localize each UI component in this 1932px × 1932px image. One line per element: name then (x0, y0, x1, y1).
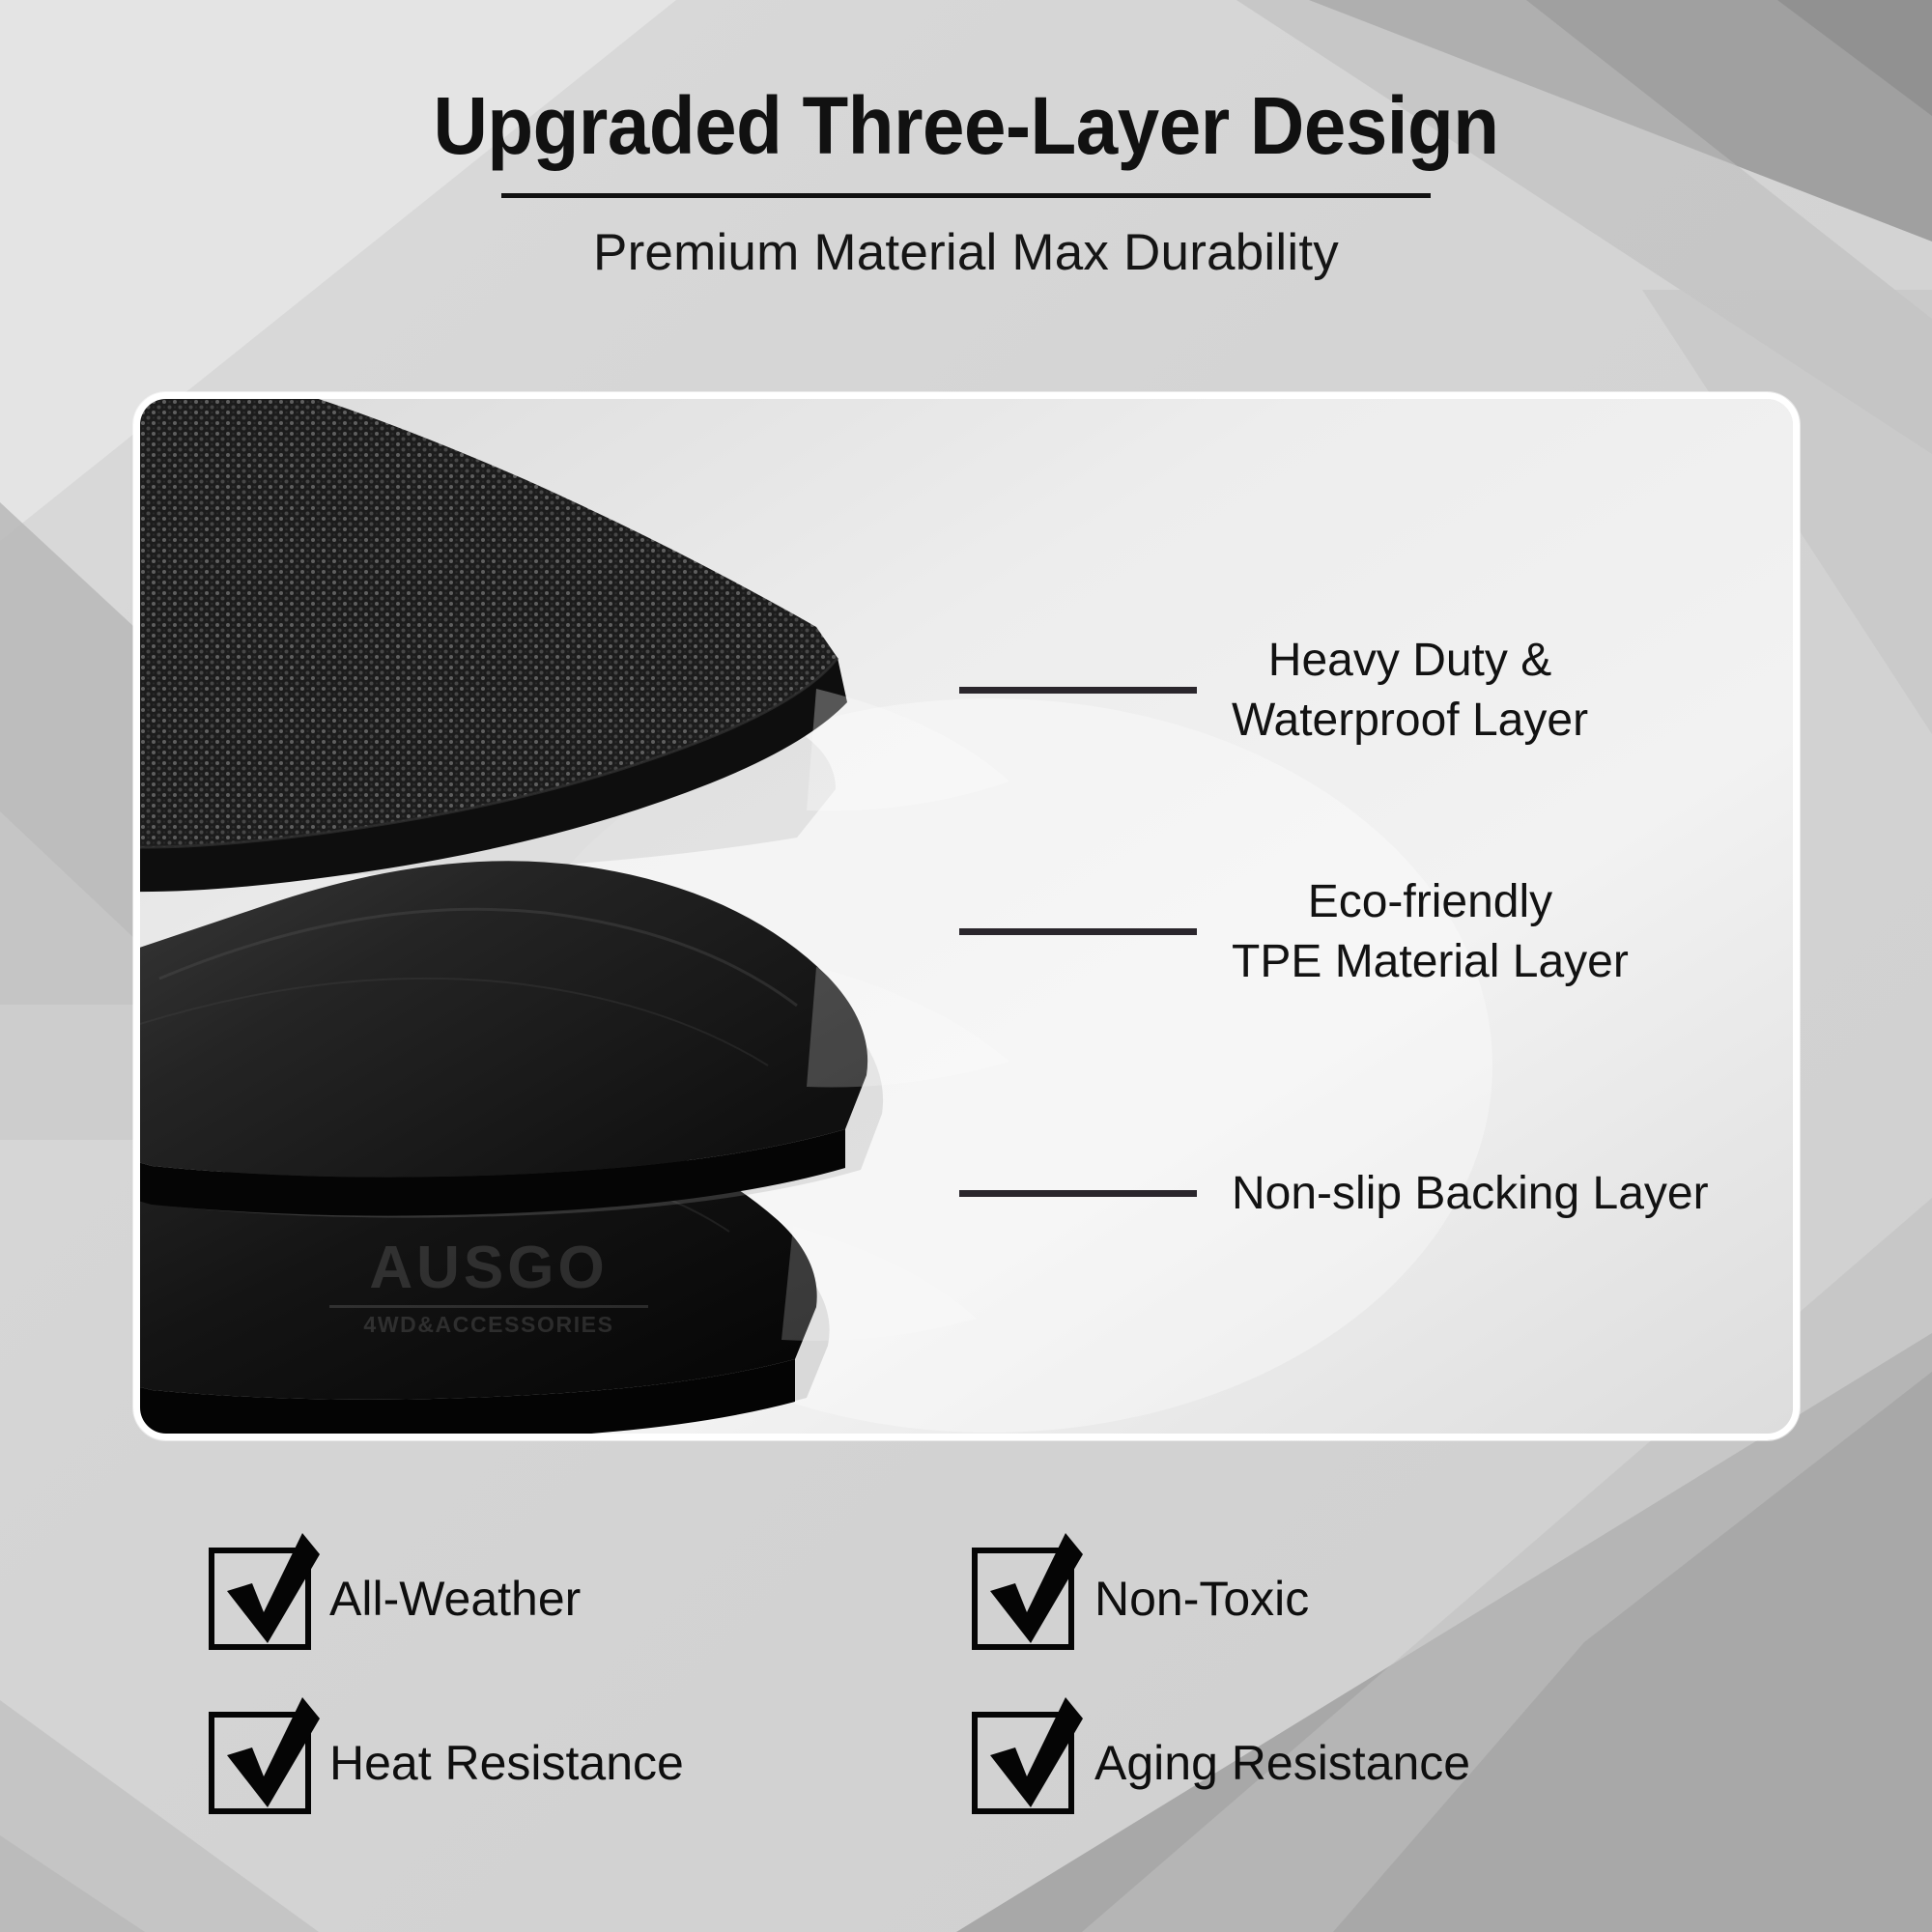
page-subtitle: Premium Material Max Durability (0, 223, 1932, 282)
checkbox-non-toxic (975, 1550, 1071, 1647)
callout-2-line-1: Eco-friendly (1232, 872, 1629, 932)
checkmark-icon (206, 1693, 322, 1815)
callout-3-text: Non-slip Backing Layer (1232, 1164, 1709, 1224)
callout-1-line-1: Heavy Duty & (1232, 631, 1588, 691)
feature-label-aging-resistance: Aging Resistance (1094, 1735, 1470, 1791)
callout-heavy-duty-waterproof: Heavy Duty & Waterproof Layer (959, 631, 1588, 751)
feature-non-toxic: Non-Toxic (966, 1517, 1729, 1681)
feature-label-all-weather: All-Weather (329, 1571, 581, 1627)
callout-2-text: Eco-friendly TPE Material Layer (1232, 872, 1629, 992)
callout-3-line-1: Non-slip Backing Layer (1232, 1164, 1709, 1224)
feature-list: All-Weather Non-Toxic Heat Resistance Ag… (0, 1517, 1932, 1845)
header: Upgraded Three-Layer Design Premium Mate… (0, 0, 1932, 282)
checkmark-icon (969, 1529, 1085, 1651)
leader-line-3 (959, 1190, 1197, 1197)
callout-1-text: Heavy Duty & Waterproof Layer (1232, 631, 1588, 751)
feature-label-heat-resistance: Heat Resistance (329, 1735, 684, 1791)
checkbox-all-weather (212, 1550, 308, 1647)
callout-non-slip-backing: Non-slip Backing Layer (959, 1164, 1709, 1224)
checkmark-icon (206, 1529, 322, 1651)
callout-2-line-2: TPE Material Layer (1232, 932, 1629, 992)
callout-1-line-2: Waterproof Layer (1232, 691, 1588, 751)
checkmark-icon (969, 1693, 1085, 1815)
checkbox-heat-resistance (212, 1715, 308, 1811)
feature-aging-resistance: Aging Resistance (966, 1681, 1729, 1845)
feature-all-weather: All-Weather (203, 1517, 966, 1681)
page-title: Upgraded Three-Layer Design (68, 0, 1864, 166)
checkbox-aging-resistance (975, 1715, 1071, 1811)
leader-line-1 (959, 687, 1197, 694)
title-divider (501, 193, 1431, 198)
feature-label-non-toxic: Non-Toxic (1094, 1571, 1309, 1627)
leader-line-2 (959, 928, 1197, 935)
callout-eco-friendly-tpe: Eco-friendly TPE Material Layer (959, 872, 1629, 992)
feature-heat-resistance: Heat Resistance (203, 1681, 966, 1845)
